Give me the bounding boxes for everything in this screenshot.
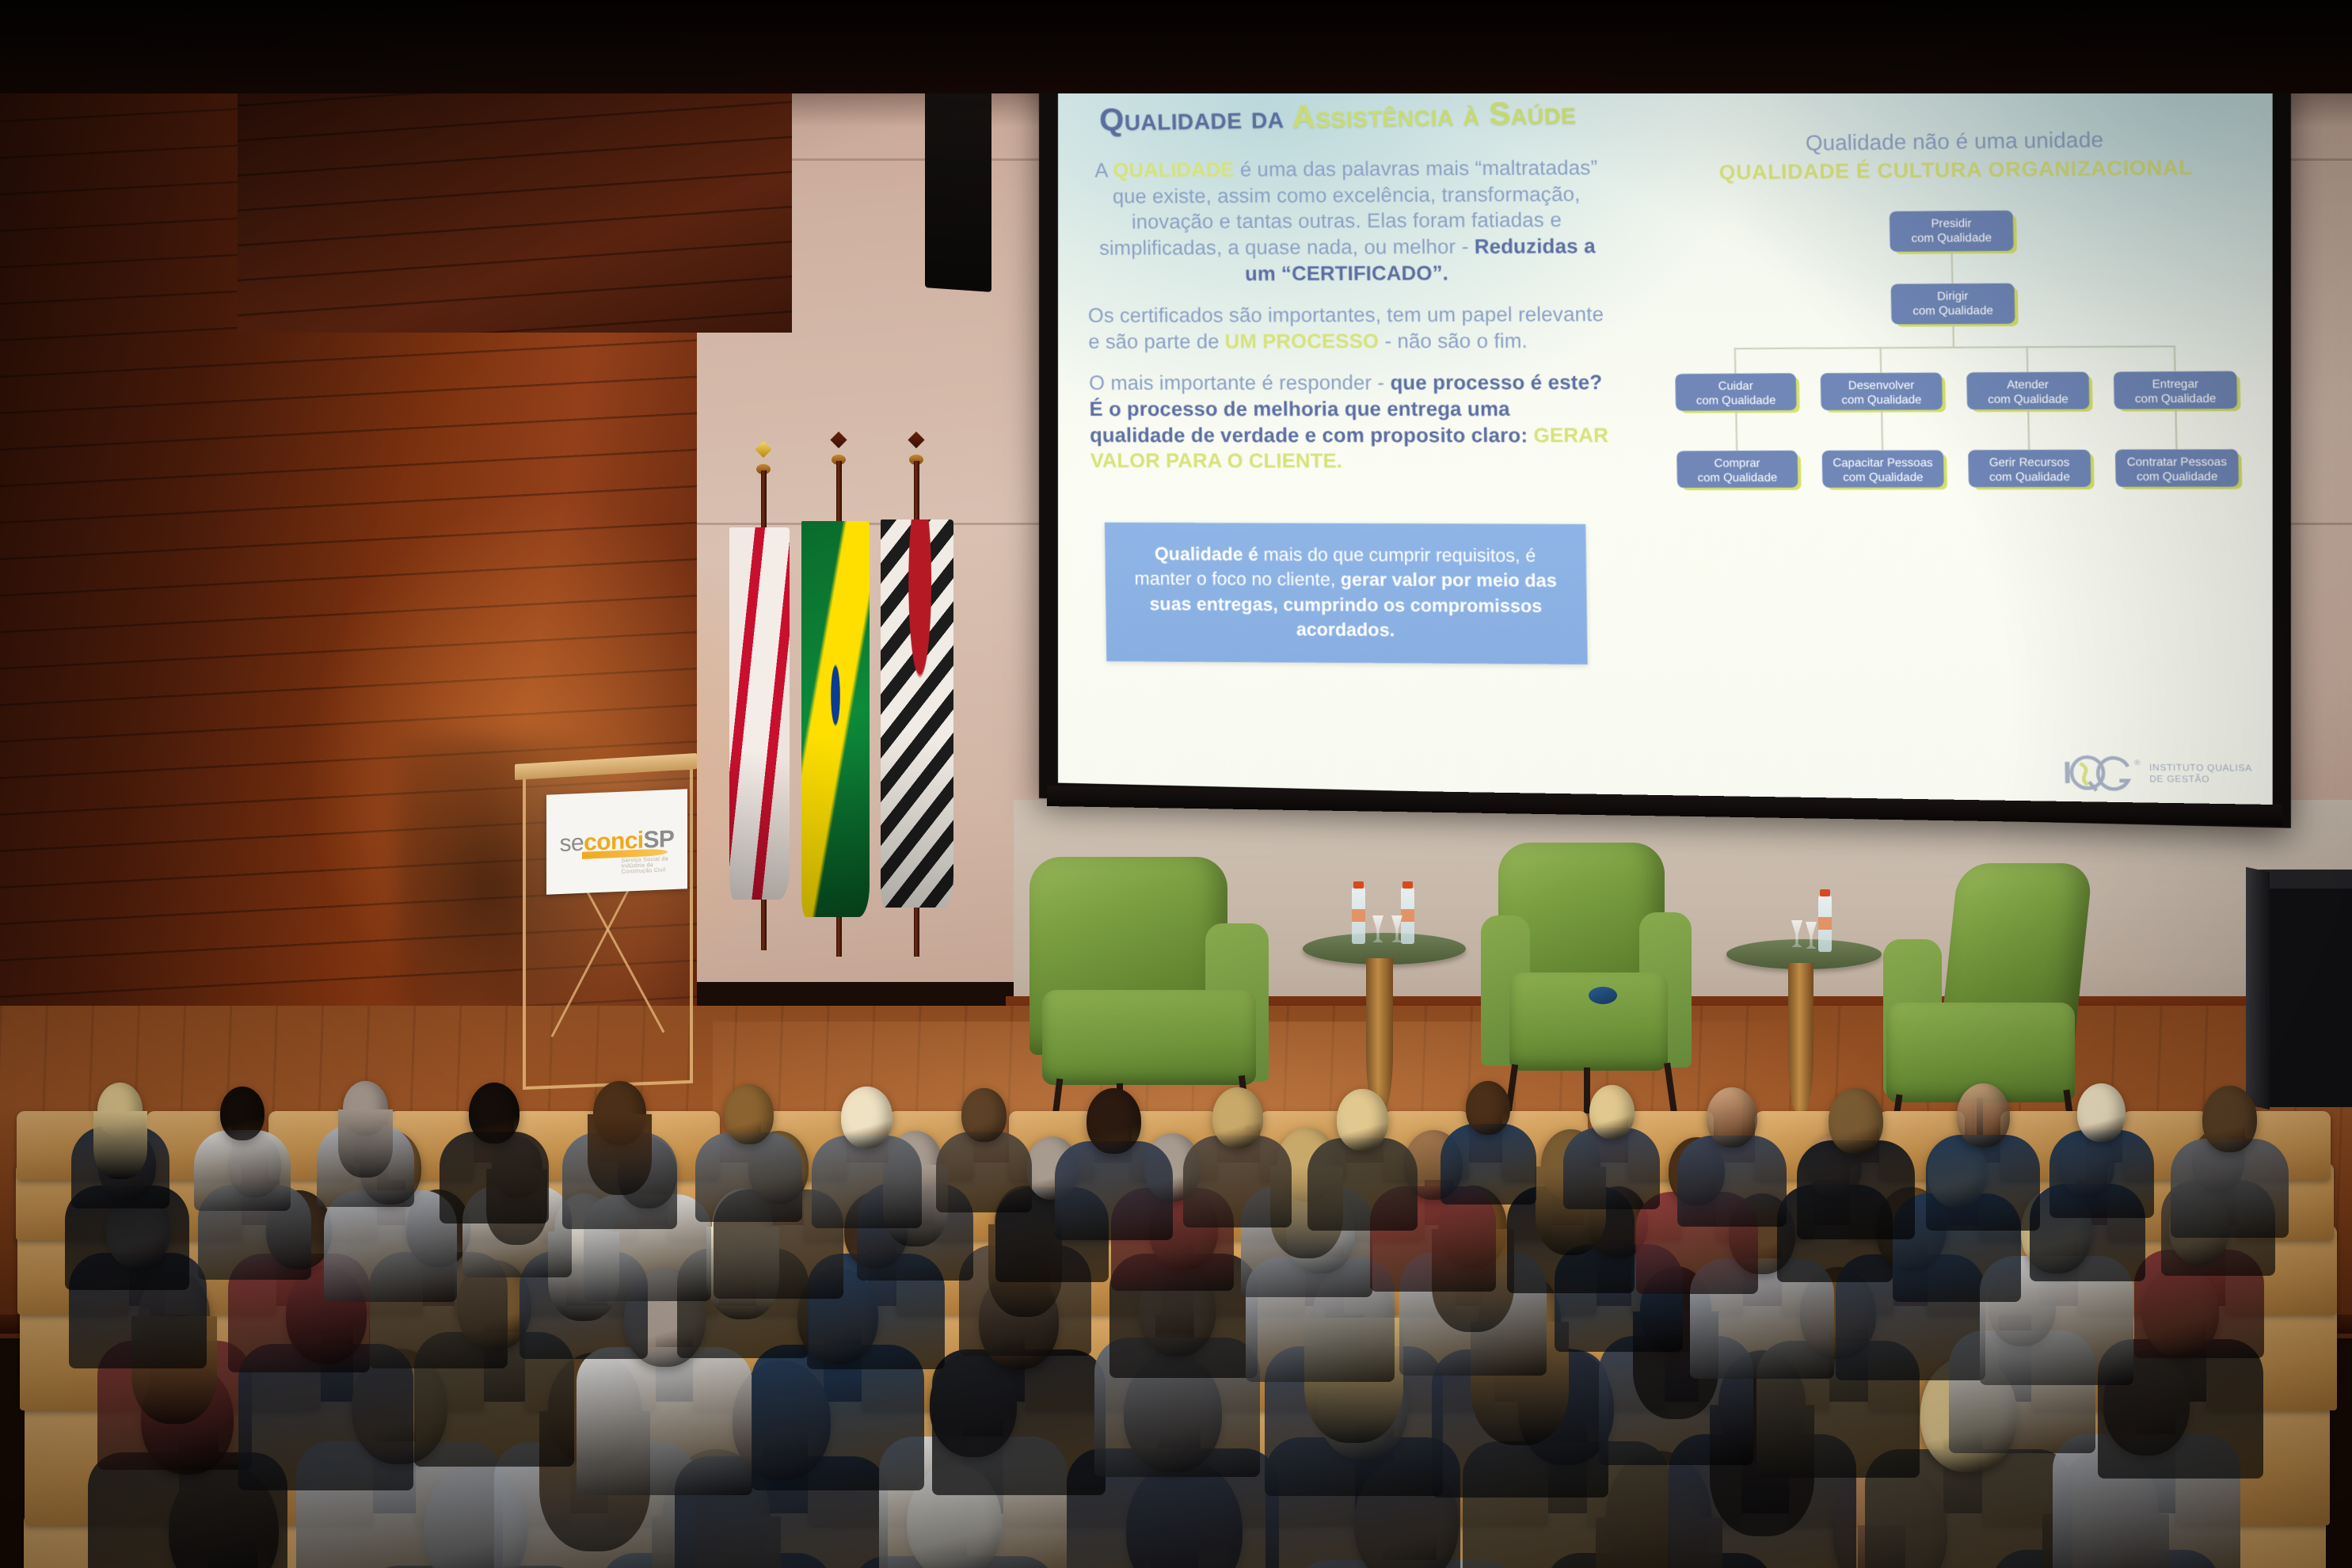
org-node-label: Gerir Recursos — [1989, 456, 2070, 470]
flag-cloth — [801, 521, 870, 917]
iqg-logo: I ® INSTITUTO QUALISA DE GESTÃO — [2061, 753, 2253, 795]
audience-member-shoulders — [932, 1349, 1105, 1494]
slide-paragraph-2: Os certificados são importantes, tem um … — [1088, 302, 1610, 355]
audience-member-shoulders — [1926, 1135, 2041, 1231]
org-node-label: Dirigir — [1937, 290, 1969, 303]
org-node: Entregarcom Qualidade — [2114, 371, 2237, 409]
audience-member-shoulders — [1183, 1136, 1292, 1227]
audience-member-head — [1829, 1088, 1883, 1154]
iqg-logo-line2: DE GESTÃO — [2149, 774, 2252, 786]
org-node-sublabel: com Qualidade — [1825, 470, 1940, 485]
audience-member-hair — [338, 1109, 392, 1178]
podium-sign: seconciSP Serviço Social da Indústria da… — [546, 789, 687, 894]
org-node: Atendercom Qualidade — [1966, 372, 2089, 410]
org-node-label: Desenvolver — [1848, 379, 1915, 393]
water-bottle — [1352, 887, 1365, 944]
org-node-label: Cuidar — [1718, 380, 1753, 393]
audience-member-head — [1466, 1081, 1510, 1135]
audience-member-shoulders — [812, 1136, 922, 1228]
audience-member-head — [220, 1087, 265, 1140]
org-connector — [1952, 324, 1954, 347]
org-node-sublabel: com Qualidade — [1893, 230, 2010, 246]
org-node-sublabel: com Qualidade — [1894, 303, 2011, 318]
text-run: A — [1094, 159, 1113, 181]
org-connector — [1734, 348, 1737, 374]
org-node-sublabel: com Qualidade — [1972, 470, 2087, 485]
seconci-logo: seconciSP Serviço Social da Indústria da… — [560, 826, 675, 858]
org-node: Comprarcom Qualidade — [1676, 451, 1798, 488]
org-node: Desenvolvercom Qualidade — [1821, 372, 1943, 410]
flag-cloth — [729, 527, 790, 900]
right-heading-secondary: QUALIDADE É CULTURA ORGANIZACIONAL — [1668, 154, 2244, 185]
org-connector — [2027, 346, 2029, 372]
audience-member-head — [841, 1087, 892, 1148]
org-node-sublabel: com Qualidade — [1970, 392, 2086, 407]
text-run: Qualidade é — [1155, 543, 1259, 565]
flag-cloth — [881, 519, 953, 908]
org-node-sublabel: com Qualidade — [1824, 393, 1939, 408]
iqg-logo-text: INSTITUTO QUALISA DE GESTÃO — [2149, 762, 2253, 786]
audience-member-head — [1957, 1083, 2010, 1147]
org-node-label: Presidir — [1931, 217, 1971, 230]
presentation-slide: Qualidade da Assistência à Saúde A QUALI… — [1058, 78, 2273, 811]
org-node-label: Atender — [2007, 379, 2049, 392]
slide-title-part2: Assistência à Saúde — [1292, 95, 1577, 135]
audience-member-shoulders — [2171, 1139, 2289, 1238]
audience-member-hair — [93, 1111, 147, 1179]
audience-member-hair — [588, 1114, 652, 1195]
audience-member-shoulders — [2049, 1130, 2154, 1218]
org-node: Dirigircom Qualidade — [1891, 284, 2015, 325]
audience-member-head — [2202, 1086, 2257, 1152]
text-run: UM PROCESSO — [1224, 330, 1379, 353]
slide-callout-box: Qualidade é mais do que cumprir requisit… — [1105, 523, 1588, 665]
audience-member-head — [1212, 1087, 1263, 1148]
slide-title: Qualidade da Assistência à Saúde — [1099, 95, 1577, 139]
slide-right-column: Qualidade não é uma unidade QUALIDADE É … — [1667, 125, 2244, 186]
audience-member-shoulders — [194, 1130, 290, 1211]
right-heading-primary: Qualidade não é uma unidade — [1667, 125, 2244, 158]
audience-member-head — [1707, 1087, 1757, 1148]
audience-member-shoulders — [1441, 1124, 1536, 1204]
svg-text:®: ® — [2134, 759, 2141, 767]
audience-member-head — [725, 1084, 774, 1144]
text-run: O mais importante é responder - — [1089, 372, 1391, 395]
org-node-sublabel: com Qualidade — [1680, 470, 1795, 485]
org-node: Presidircom Qualidade — [1890, 211, 2014, 252]
org-node: Cuidarcom Qualidade — [1675, 373, 1796, 410]
org-connector — [2175, 409, 2177, 449]
org-connector — [1881, 410, 1883, 451]
water-bottle — [1818, 895, 1832, 952]
flag-sao-paulo-state — [870, 434, 980, 957]
audience-member-head — [1337, 1089, 1387, 1151]
slide-title-part1: Qualidade da — [1099, 100, 1293, 138]
audience-member-shoulders — [1055, 1141, 1173, 1240]
audience-member-shoulders — [577, 1347, 753, 1495]
iqg-logo-mark-icon: I ® — [2061, 753, 2141, 794]
auditorium-scene: Qualidade da Assistência à Saúde A QUALI… — [0, 0, 2352, 1568]
org-node-sublabel: com Qualidade — [2118, 392, 2234, 407]
audience-member-head — [1087, 1088, 1141, 1154]
audience-member-shoulders — [324, 1190, 457, 1302]
org-node-label: Entregar — [2152, 378, 2198, 391]
org-connector — [1735, 410, 1737, 451]
org-connector — [1951, 251, 1954, 284]
audience — [0, 1014, 2352, 1568]
org-node-label: Contratar Pessoas — [2127, 456, 2227, 470]
audience-member-shoulders — [1797, 1140, 1914, 1239]
org-node: Capacitar Pessoascom Qualidade — [1822, 450, 1944, 487]
org-connector — [1735, 345, 2175, 349]
org-node: Contratar Pessoascom Qualidade — [2115, 449, 2239, 487]
slide-paragraph-1: A QUALIDADE é uma das palavras mais “mal… — [1086, 155, 1609, 287]
audience-member-head — [1589, 1085, 1635, 1139]
slide-left-column: A QUALIDADE é uma das palavras mais “mal… — [1086, 155, 1612, 491]
org-node-sublabel: com Qualidade — [1679, 394, 1794, 409]
projection-screen: Qualidade da Assistência à Saúde A QUALI… — [1039, 62, 2291, 828]
org-node-label: Comprar — [1714, 457, 1760, 470]
org-connector — [1880, 347, 1882, 373]
audience-member-head — [961, 1088, 1006, 1142]
slide-paragraph-3: O mais importante é responder - que proc… — [1089, 371, 1612, 475]
org-chart: Presidircom QualidadeDirigircom Qualidad… — [1660, 204, 2253, 546]
org-node-sublabel: com Qualidade — [2119, 470, 2236, 485]
audience-member-shoulders — [1677, 1136, 1786, 1227]
audience-member-shoulders — [440, 1132, 549, 1224]
ceiling — [0, 0, 2352, 93]
water-bottle — [1401, 887, 1414, 944]
audience-member-shoulders — [1307, 1138, 1418, 1231]
text-run: QUALIDADE — [1113, 159, 1235, 182]
audience-member-shoulders — [936, 1132, 1032, 1212]
org-node: Gerir Recursoscom Qualidade — [1968, 450, 2091, 487]
org-node-label: Capacitar Pessoas — [1833, 457, 1932, 470]
audience-member-head — [2077, 1083, 2126, 1142]
audience-member-shoulders — [1563, 1128, 1660, 1209]
seconci-logo-se: se — [560, 830, 584, 857]
audience-member-head — [469, 1083, 519, 1144]
org-connector — [2027, 409, 2030, 450]
org-connector — [2174, 345, 2176, 371]
audience-member-shoulders — [695, 1132, 802, 1223]
text-run: - não são o fim. — [1379, 329, 1528, 352]
seconci-logo-tagline: Serviço Social da Indústria da Construçã… — [622, 856, 675, 875]
iqg-logo-line1: INSTITUTO QUALISA — [2149, 762, 2252, 774]
remote-control-object — [1589, 987, 1617, 1004]
